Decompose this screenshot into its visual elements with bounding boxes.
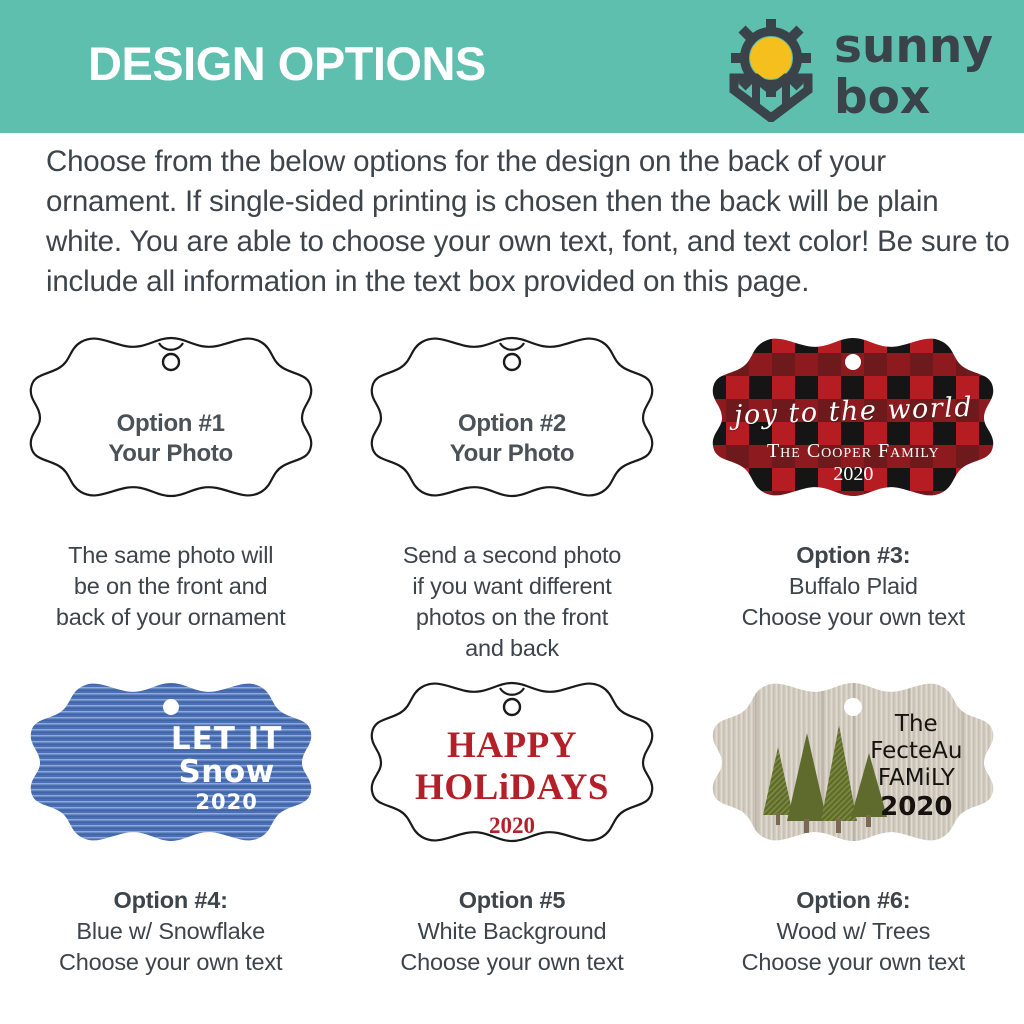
ornament-preview-2[interactable]: Option #2 Your Photo (362, 330, 662, 530)
option-card-2[interactable]: Option #2 Your Photo Send a second photo… (341, 330, 682, 675)
page-title: DESIGN OPTIONS (88, 36, 486, 91)
ornament-hang-hole-1 (163, 354, 179, 370)
option-caption-5: Option #5 White Background Choose your o… (362, 885, 662, 978)
caption-line: back of your ornament (21, 602, 321, 633)
page-header: DESIGN OPTIONS sunny box (0, 0, 1024, 133)
ornament-hang-hole-3 (845, 354, 861, 370)
caption-line: be on the front and (21, 571, 321, 602)
ornament-hang-hole-6 (844, 698, 862, 716)
option-card-4[interactable]: LET IT Snow 2020 Option #4: Blue w/ Snow… (0, 675, 341, 1020)
option-card-5[interactable]: HAPPY HOLiDAYS 2020 Option #5 White Back… (341, 675, 682, 1020)
sunnybox-logo: sunny box (726, 14, 998, 122)
caption-line: Choose your own text (703, 602, 1003, 633)
option-caption-4: Option #4: Blue w/ Snowflake Choose your… (21, 885, 321, 978)
options-row-1: Option #1 Your Photo The same photo will… (0, 330, 1024, 675)
caption-title: Option #3: (703, 540, 1003, 571)
caption-line: if you want different (362, 571, 662, 602)
ornament-hang-hole-2 (504, 354, 520, 370)
option-caption-6: Option #6: Wood w/ Trees Choose your own… (703, 885, 1003, 978)
caption-line: and back (362, 633, 662, 664)
caption-line: Wood w/ Trees (703, 916, 1003, 947)
caption-title: Option #5 (362, 885, 662, 916)
caption-line: Choose your own text (362, 947, 662, 978)
caption-line: Blue w/ Snowflake (21, 916, 321, 947)
option-card-1[interactable]: Option #1 Your Photo The same photo will… (0, 330, 341, 675)
intro-paragraph: Choose from the below options for the de… (46, 142, 1018, 302)
option-caption-1: The same photo will be on the front and … (21, 540, 321, 633)
ornament-hang-hole-5 (504, 699, 520, 715)
caption-line: Choose your own text (21, 947, 321, 978)
caption-line: Choose your own text (703, 947, 1003, 978)
logo-text-sunny: sunny (834, 19, 993, 74)
option-card-6[interactable]: The FecteAu FAMiLY 2020 Option #6: Wood … (683, 675, 1024, 1020)
sun-disc (750, 37, 792, 79)
caption-line: Send a second photo (362, 540, 662, 571)
caption-line: photos on the front (362, 602, 662, 633)
options-grid: Option #1 Your Photo The same photo will… (0, 330, 1024, 1020)
caption-line: Buffalo Plaid (703, 571, 1003, 602)
caption-line: The same photo will (21, 540, 321, 571)
ornament-preview-3[interactable]: joy to the world The Cooper Family 2020 (703, 330, 1003, 530)
ornament-preview-6[interactable]: The FecteAu FAMiLY 2020 (703, 675, 1003, 875)
option-card-3[interactable]: joy to the world The Cooper Family 2020 … (683, 330, 1024, 675)
logo-text-box: box (834, 70, 930, 122)
design-options-page: DESIGN OPTIONS sunny box (0, 0, 1024, 1024)
ornament-hang-hole-4 (163, 699, 179, 715)
option-caption-3: Option #3: Buffalo Plaid Choose your own… (703, 540, 1003, 633)
ornament-preview-1[interactable]: Option #1 Your Photo (21, 330, 321, 530)
ornament-preview-5[interactable]: HAPPY HOLiDAYS 2020 (362, 675, 662, 875)
option-caption-2: Send a second photo if you want differen… (362, 540, 662, 664)
caption-title: Option #6: (703, 885, 1003, 916)
caption-title: Option #4: (21, 885, 321, 916)
ornament-preview-4[interactable]: LET IT Snow 2020 (21, 675, 321, 875)
caption-line: White Background (362, 916, 662, 947)
options-row-2: LET IT Snow 2020 Option #4: Blue w/ Snow… (0, 675, 1024, 1020)
